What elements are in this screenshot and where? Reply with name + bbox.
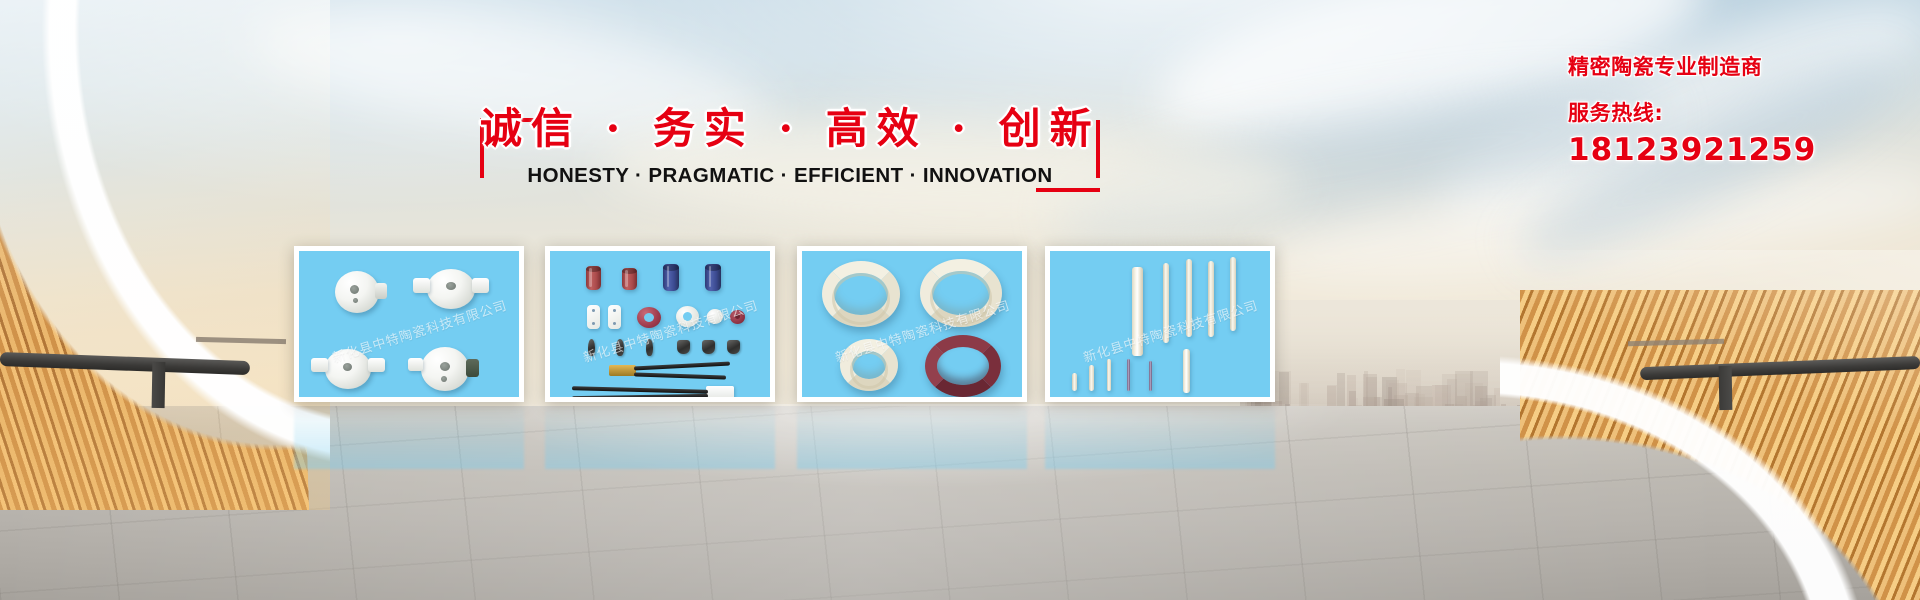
ceramic-pin <box>1072 373 1077 391</box>
product-panel-ceramic-lamp-holders[interactable]: 新化县中特陶瓷科技有限公司 <box>294 246 524 402</box>
panel-reflection <box>1045 407 1275 469</box>
ceramic-rod <box>1183 349 1190 393</box>
ceramic-lamp-holder <box>427 269 475 309</box>
panel-2-image: 新化县中特陶瓷科技有限公司 <box>550 251 770 397</box>
ceramic-ring-dark-red <box>925 335 1001 397</box>
ceramic-ring-white <box>676 306 699 327</box>
ceramic-lamp-holder <box>325 349 371 389</box>
ceramic-rod <box>1208 261 1214 337</box>
ceramic-ring-large <box>920 259 1002 327</box>
ceramic-pin-dark <box>1127 359 1130 391</box>
wire-connector <box>706 386 734 397</box>
product-panel-ceramic-rings[interactable]: 新化县中特陶瓷科技有限公司 <box>797 246 1027 402</box>
ceramic-plate <box>587 305 600 329</box>
metal-contact <box>588 339 595 356</box>
panel-reflection <box>797 407 1027 469</box>
wire-lead <box>634 372 726 379</box>
ceramic-tube-blue <box>663 264 679 291</box>
slogan-block: 诚信 · 务实 · 高效 · 创新 HONESTY · PRAGMATIC · … <box>480 100 1100 205</box>
contact-block: 精密陶瓷专业制造商 服务热线: 18123921259 <box>1568 52 1898 170</box>
panel-3-image: 新化县中特陶瓷科技有限公司 <box>802 251 1022 397</box>
brass-terminal <box>609 365 636 376</box>
product-panel-ceramic-tubes[interactable]: 新化县中特陶瓷科技有限公司 <box>545 246 775 402</box>
metal-clip <box>727 340 740 354</box>
company-tagline: 精密陶瓷专业制造商 <box>1568 52 1898 82</box>
ceramic-rod <box>1230 257 1236 331</box>
hotline-number[interactable]: 18123921259 <box>1568 130 1898 170</box>
metal-contact <box>646 339 653 356</box>
ceramic-rod <box>1186 259 1192 337</box>
wire-lead <box>634 361 730 370</box>
ceramic-washer-white <box>707 309 723 324</box>
ceramic-pin <box>1107 359 1111 391</box>
panel-watermark: 新化县中特陶瓷科技有限公司 <box>1050 282 1270 380</box>
ceramic-washer-red <box>730 310 745 324</box>
ceramic-ring-large <box>822 261 900 327</box>
slogan-english: HONESTY · PRAGMATIC · EFFICIENT · INNOVA… <box>480 164 1100 188</box>
panel-reflection <box>294 407 524 469</box>
ceramic-plate <box>608 305 621 329</box>
panel-1-image: 新化县中特陶瓷科技有限公司 <box>299 251 519 397</box>
promotional-banner: 诚信 · 务实 · 高效 · 创新 HONESTY · PRAGMATIC · … <box>0 0 1920 600</box>
metal-contact <box>616 339 624 356</box>
ceramic-tube-red <box>622 268 637 290</box>
ceramic-pin-dark <box>1149 361 1152 391</box>
ceramic-lamp-holder <box>335 271 379 313</box>
panel-reflection <box>545 407 775 469</box>
ceramic-tube-red <box>586 266 601 290</box>
ceramic-pin <box>1089 365 1094 391</box>
metal-clip <box>702 340 715 354</box>
panel-4-image: 新化县中特陶瓷科技有限公司 <box>1050 251 1270 397</box>
metal-clip <box>677 340 690 354</box>
ceramic-ring-red <box>637 307 661 328</box>
ceramic-rod <box>1132 267 1143 356</box>
ceramic-ring-small <box>840 339 898 391</box>
slogan-chinese: 诚信 · 务实 · 高效 · 创新 <box>480 100 1100 158</box>
ceramic-tube-blue <box>705 264 721 291</box>
bracket-bottom-right-horizontal <box>1036 188 1100 192</box>
wire-lead <box>572 386 708 394</box>
product-panel-ceramic-rods[interactable]: 新化县中特陶瓷科技有限公司 <box>1045 246 1275 402</box>
wire-lead <box>572 394 708 397</box>
hotline-label: 服务热线: <box>1568 98 1898 128</box>
ceramic-rod <box>1163 263 1169 343</box>
ceramic-lamp-holder <box>421 347 469 391</box>
